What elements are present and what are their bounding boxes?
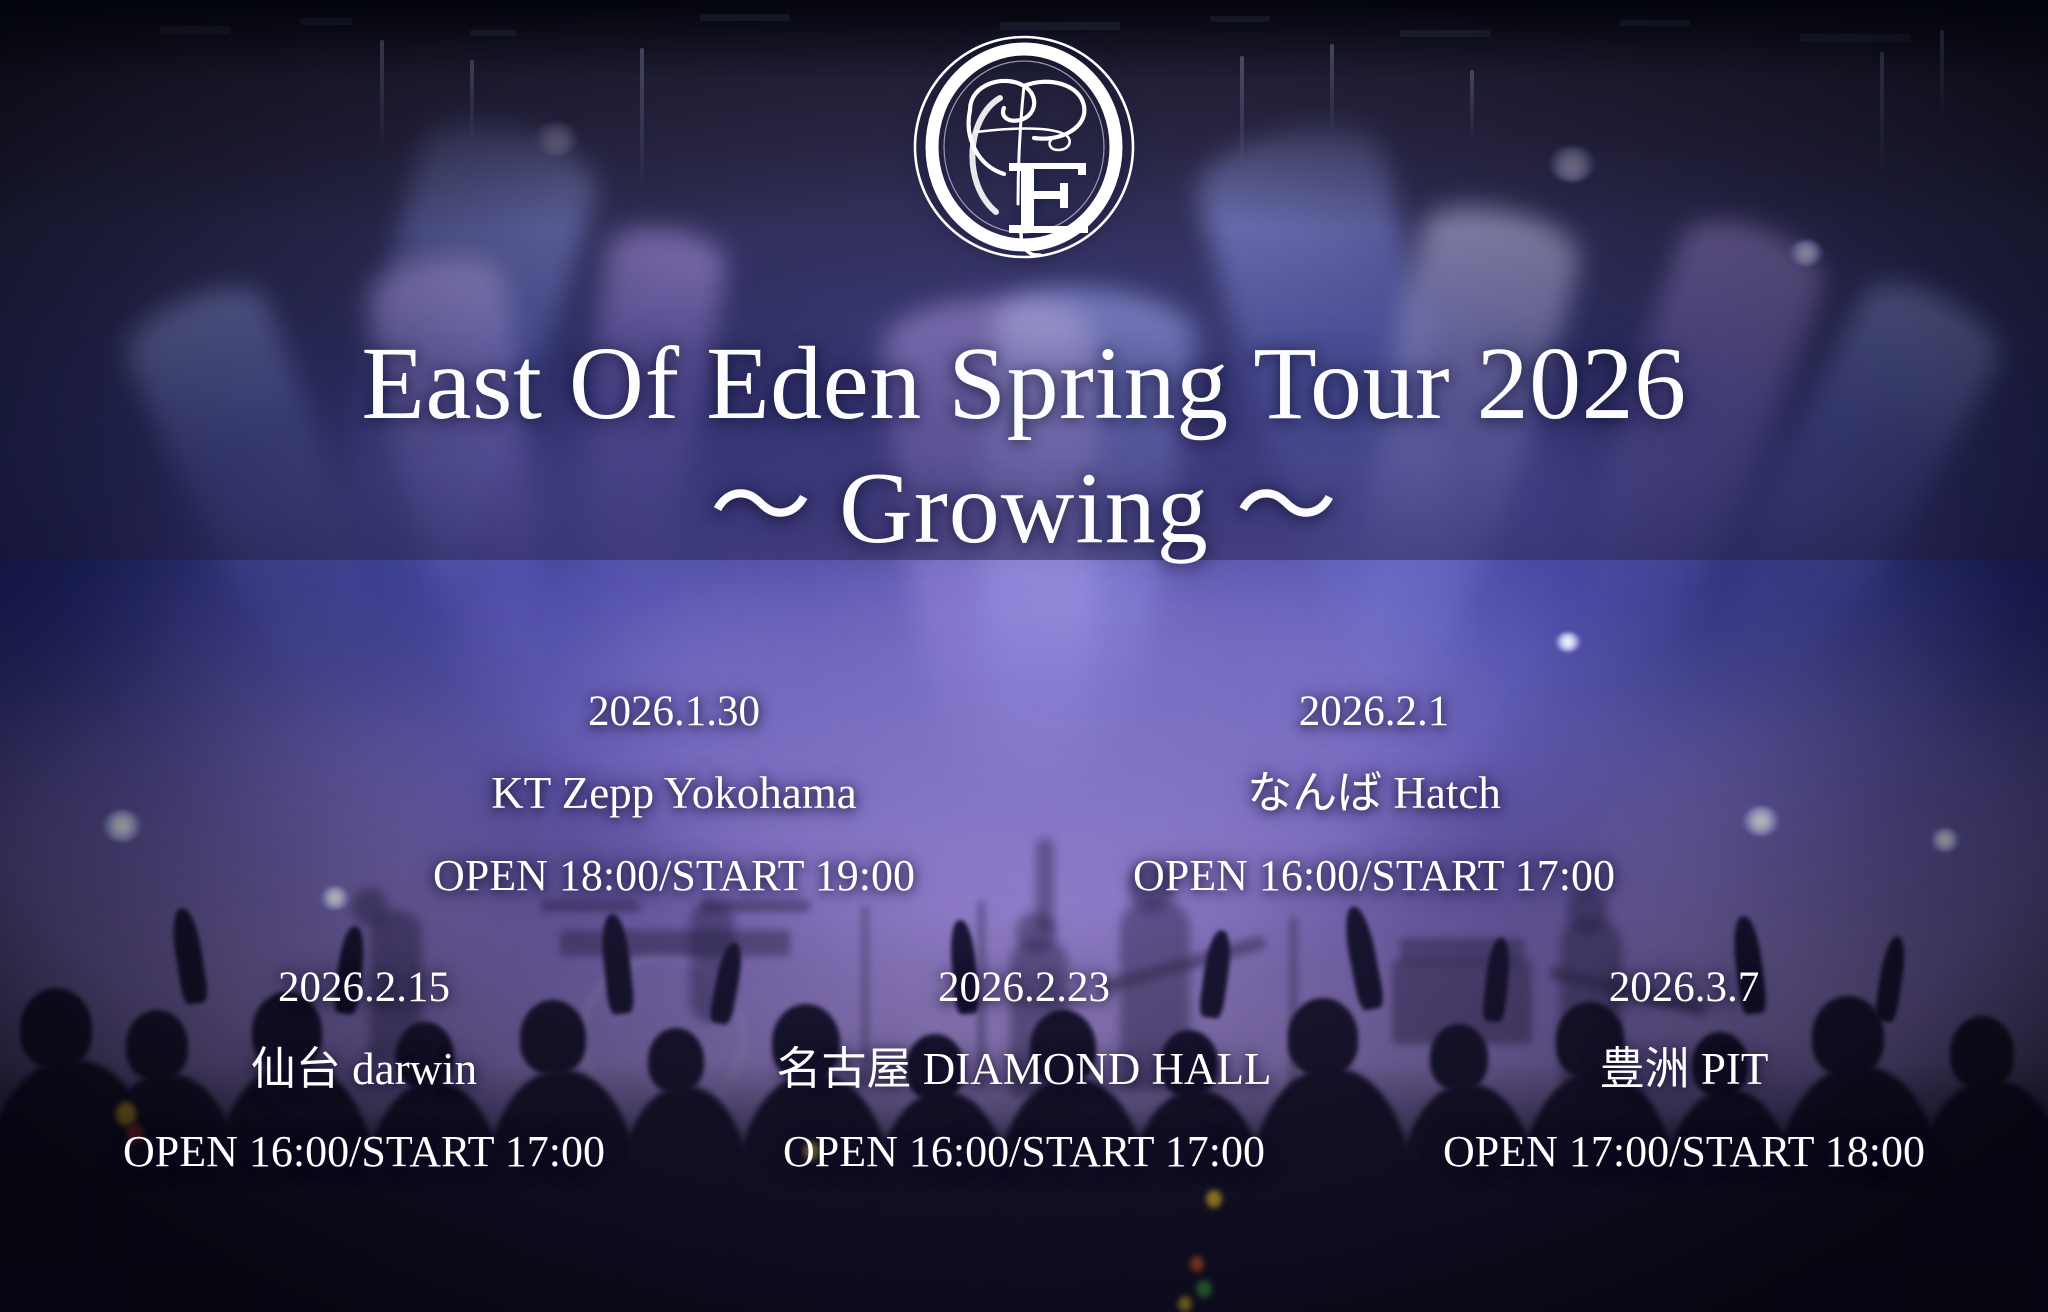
tour-venue-name: 仙台 darwin [34,1047,694,1092]
tour-date-entry: 2026.2.1 なんば Hatch OPEN 16:00/START 17:0… [1024,690,1724,898]
tour-date-value: 2026.1.30 [324,690,1024,733]
tour-door-times: OPEN 16:00/START 17:00 [34,1130,694,1174]
tour-venue-name: KT Zepp Yokohama [324,771,1024,816]
tour-date-value: 2026.2.23 [694,966,1354,1009]
tour-door-times: OPEN 18:00/START 19:00 [324,854,1024,898]
tour-poster: East Of Eden Spring Tour 2026 〜 Growing … [0,0,2048,1312]
tour-date-entry: 2026.1.30 KT Zepp Yokohama OPEN 18:00/ST… [324,690,1024,898]
tour-door-times: OPEN 16:00/START 17:00 [1024,854,1724,898]
tour-date-entry: 2026.2.23 名古屋 DIAMOND HALL OPEN 16:00/ST… [694,966,1354,1174]
east-of-eden-logo [908,34,1140,260]
tour-date-entry: 2026.3.7 豊洲 PIT OPEN 17:00/START 18:00 [1354,966,2014,1174]
tour-subtitle: 〜 Growing 〜 [0,458,2048,560]
title-block: East Of Eden Spring Tour 2026 〜 Growing … [0,332,2048,560]
eoe-monogram-icon [908,34,1140,260]
tour-door-times: OPEN 17:00/START 18:00 [1354,1130,2014,1174]
tour-title: East Of Eden Spring Tour 2026 [0,332,2048,436]
tour-date-row-2: 2026.2.15 仙台 darwin OPEN 16:00/START 17:… [0,966,2048,1174]
tour-date-value: 2026.2.1 [1024,690,1724,733]
tour-date-list: 2026.1.30 KT Zepp Yokohama OPEN 18:00/ST… [0,690,2048,1174]
tour-venue-name: 名古屋 DIAMOND HALL [694,1047,1354,1092]
tour-venue-name: なんば Hatch [1024,771,1724,816]
tour-date-value: 2026.3.7 [1354,966,2014,1009]
tour-door-times: OPEN 16:00/START 17:00 [694,1130,1354,1174]
tour-venue-name: 豊洲 PIT [1354,1047,2014,1092]
tour-date-value: 2026.2.15 [34,966,694,1009]
tour-date-row-1: 2026.1.30 KT Zepp Yokohama OPEN 18:00/ST… [0,690,2048,898]
tour-date-entry: 2026.2.15 仙台 darwin OPEN 16:00/START 17:… [34,966,694,1174]
